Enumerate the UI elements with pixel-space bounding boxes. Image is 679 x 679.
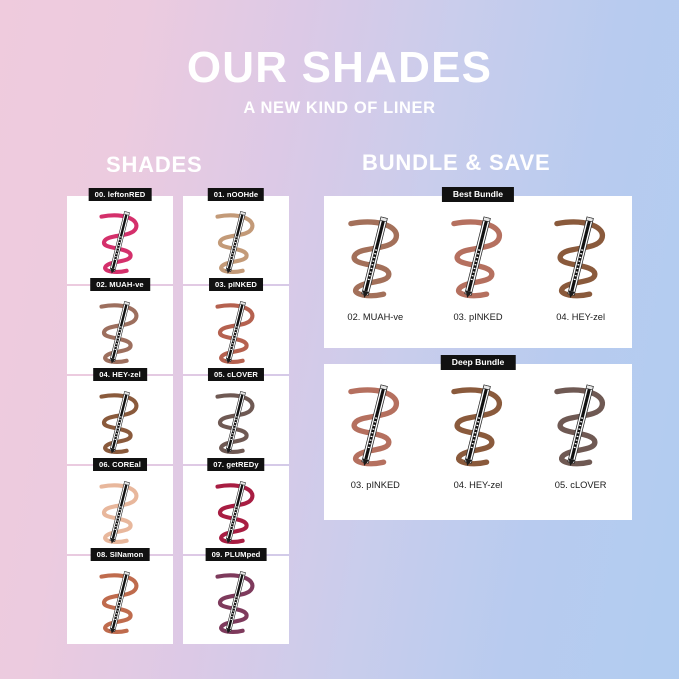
shade-label: 03. pINKED <box>209 278 263 291</box>
page-title: OUR SHADES <box>0 46 679 90</box>
shade-card[interactable]: 04. HEY-zel <box>67 376 173 464</box>
page-header: OUR SHADES A NEW KIND OF LINER <box>0 46 679 118</box>
pencil-icon <box>109 481 129 544</box>
pencil-icon <box>567 385 593 467</box>
shade-swatch-drawing <box>203 563 269 643</box>
shade-label: 07. getREDy <box>207 458 264 471</box>
shade-swatch <box>183 376 289 464</box>
shade-swatch-drawing <box>203 293 269 373</box>
pencil-icon <box>464 385 490 467</box>
pencil-icon <box>361 385 387 467</box>
shade-card[interactable]: 08. SINamon <box>67 556 173 644</box>
shade-label: 08. SINamon <box>91 548 150 561</box>
shade-swatch-drawing <box>87 473 153 553</box>
pencil-icon <box>109 571 129 634</box>
bundle-section-heading: BUNDLE & SAVE <box>362 150 550 176</box>
pencil-icon <box>225 481 245 544</box>
bundle-item-label: 04. HEY-zel <box>556 312 605 322</box>
shade-swatch-drawing <box>332 374 418 478</box>
shade-swatch-drawing <box>203 473 269 553</box>
bundle-panel-deep[interactable]: Deep Bundle 03. pINKED04. HEY-zel05. cLO… <box>324 364 632 520</box>
pencil-icon <box>109 391 129 454</box>
shade-card[interactable]: 01. nOOHde <box>183 196 289 284</box>
shade-card[interactable]: 06. COREal <box>67 466 173 554</box>
pencil-icon <box>567 217 593 299</box>
shade-label: 02. MUAH-ve <box>90 278 150 291</box>
shade-card[interactable]: 03. pINKED <box>183 286 289 374</box>
shade-swatch-drawing <box>435 374 521 478</box>
bundle-item-label: 03. pINKED <box>351 480 400 490</box>
bundle-item[interactable]: 03. pINKED <box>327 374 423 490</box>
shades-section-heading: SHADES <box>106 152 203 178</box>
shade-card[interactable]: 02. MUAH-ve <box>67 286 173 374</box>
page-subtitle: A NEW KIND OF LINER <box>0 99 679 118</box>
shades-grid: 00. leftonRED01. nOOHde02. MUAH-ve03. pI… <box>67 196 289 645</box>
bundle-items: 02. MUAH-ve03. pINKED04. HEY-zel <box>324 196 632 348</box>
pencil-icon <box>225 211 245 274</box>
shade-swatch-drawing <box>87 563 153 643</box>
shade-swatch-drawing <box>332 206 418 310</box>
bundle-tab-label: Deep Bundle <box>441 355 516 370</box>
pencil-icon <box>225 391 245 454</box>
shade-swatch <box>67 286 173 374</box>
bundle-item-label: 05. cLOVER <box>555 480 607 490</box>
bundle-tab-label: Best Bundle <box>442 187 514 202</box>
pencil-icon <box>225 301 245 364</box>
shade-label: 00. leftonRED <box>89 188 152 201</box>
shade-swatch-drawing <box>538 206 624 310</box>
shade-swatch-drawing <box>87 203 153 283</box>
shade-swatch-drawing <box>203 203 269 283</box>
bundle-item-label: 04. HEY-zel <box>454 480 503 490</box>
bundle-item[interactable]: 04. HEY-zel <box>430 374 526 490</box>
bundle-items: 03. pINKED04. HEY-zel05. cLOVER <box>324 364 632 520</box>
shade-swatch-drawing <box>538 374 624 478</box>
shade-swatch-drawing <box>203 383 269 463</box>
shade-swatch-drawing <box>87 293 153 373</box>
shade-label: 06. COREal <box>93 458 147 471</box>
bundle-item-label: 03. pINKED <box>453 312 502 322</box>
pencil-icon <box>109 211 129 274</box>
pencil-icon <box>225 571 245 634</box>
shade-swatch <box>183 556 289 644</box>
pencil-icon <box>109 301 129 364</box>
shade-swatch <box>183 196 289 284</box>
shade-card[interactable]: 07. getREDy <box>183 466 289 554</box>
shade-label: 09. PLUMped <box>206 548 267 561</box>
shade-card[interactable]: 00. leftonRED <box>67 196 173 284</box>
bundle-item[interactable]: 03. pINKED <box>430 206 526 322</box>
shade-swatch-drawing <box>87 383 153 463</box>
bundle-item[interactable]: 05. cLOVER <box>533 374 629 490</box>
shade-swatch <box>183 286 289 374</box>
shade-swatch-drawing <box>435 206 521 310</box>
pencil-icon <box>361 217 387 299</box>
shade-card[interactable]: 05. cLOVER <box>183 376 289 464</box>
bundle-item[interactable]: 04. HEY-zel <box>533 206 629 322</box>
shade-swatch <box>67 556 173 644</box>
shade-swatch <box>183 466 289 554</box>
bundle-item[interactable]: 02. MUAH-ve <box>327 206 423 322</box>
bundle-item-label: 02. MUAH-ve <box>347 312 403 322</box>
bundle-panel-best[interactable]: Best Bundle 02. MUAH-ve03. pINKED04. HEY… <box>324 196 632 348</box>
shade-label: 05. cLOVER <box>208 368 264 381</box>
shade-swatch <box>67 466 173 554</box>
shade-label: 01. nOOHde <box>208 188 264 201</box>
shade-label: 04. HEY-zel <box>93 368 147 381</box>
pencil-icon <box>464 217 490 299</box>
shade-card[interactable]: 09. PLUMped <box>183 556 289 644</box>
shade-swatch <box>67 376 173 464</box>
shade-swatch <box>67 196 173 284</box>
